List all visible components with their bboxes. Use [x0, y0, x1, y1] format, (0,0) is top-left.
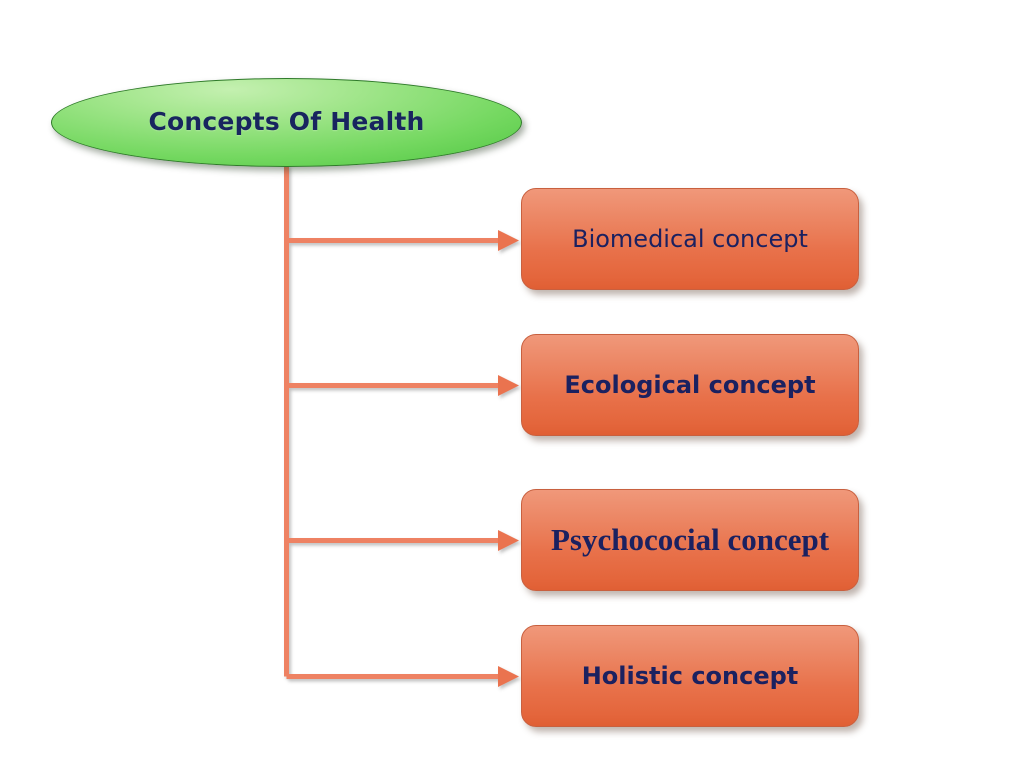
arrowhead-1	[498, 230, 519, 251]
concept-box-holistic[interactable]: Holistic concept	[521, 625, 859, 727]
concept-box-label: Biomedical concept	[572, 225, 808, 253]
root-node-concepts-of-health[interactable]: Concepts Of Health	[51, 78, 522, 167]
arrowhead-4	[498, 666, 519, 687]
concept-box-label: Psychococial concept	[551, 522, 829, 558]
concept-box-psychococial[interactable]: Psychococial concept	[521, 489, 859, 591]
arrowhead-2	[498, 375, 519, 396]
concept-box-ecological[interactable]: Ecological concept	[521, 334, 859, 436]
diagram-canvas: Concepts Of Health Biomedical concept Ec…	[0, 0, 1024, 768]
concept-box-label: Holistic concept	[582, 662, 799, 690]
root-node-label: Concepts Of Health	[148, 107, 424, 138]
concept-box-label: Ecological concept	[564, 371, 815, 399]
arrowhead-3	[498, 530, 519, 551]
concept-box-biomedical[interactable]: Biomedical concept	[521, 188, 859, 290]
